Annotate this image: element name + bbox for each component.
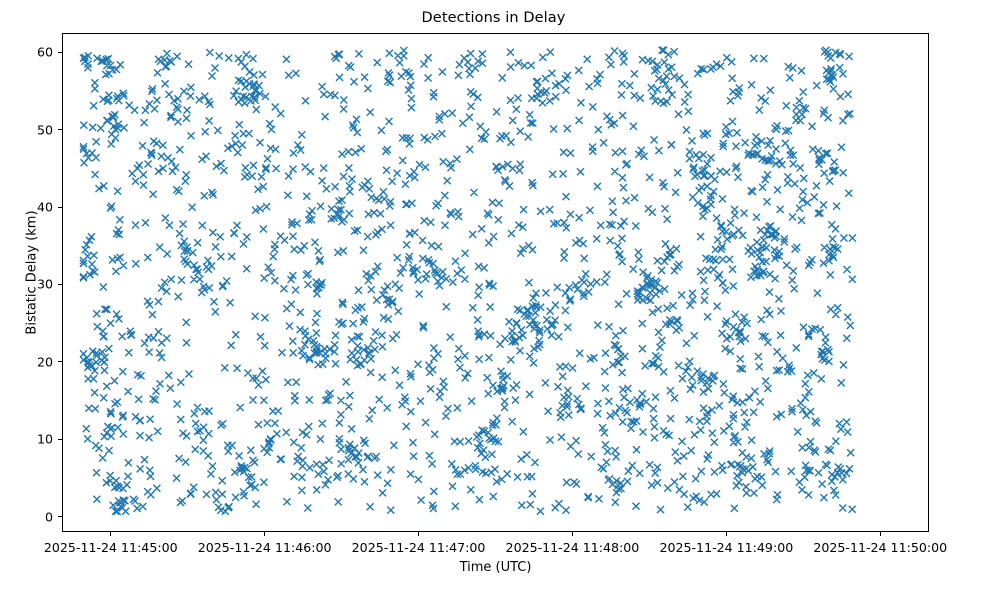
matplotlib-figure: Detections in Delay Bistatic Delay (km) … — [0, 0, 987, 590]
x-tick-label: 2025-11-24 11:50:00 — [813, 540, 947, 555]
x-tick-mark — [880, 532, 881, 536]
x-tick-label: 2025-11-24 11:47:00 — [352, 540, 486, 555]
scatter-points — [63, 34, 929, 532]
x-tick-mark — [726, 532, 727, 536]
x-tick-label: 2025-11-24 11:46:00 — [198, 540, 332, 555]
x-tick-mark — [264, 532, 265, 536]
scatter-marker-set — [80, 47, 856, 515]
y-tick-label: 20 — [0, 354, 53, 369]
y-tick-label: 60 — [0, 45, 53, 60]
y-tick-label: 10 — [0, 432, 53, 447]
x-tick-mark — [418, 532, 419, 536]
x-tick-mark — [572, 532, 573, 536]
x-axis-label: Time (UTC) — [62, 560, 929, 575]
x-tick-label: 2025-11-24 11:45:00 — [44, 540, 178, 555]
x-tick-label: 2025-11-24 11:49:00 — [659, 540, 793, 555]
page-title: Detections in Delay — [0, 10, 987, 26]
y-tick-label: 50 — [0, 122, 53, 137]
x-tick-mark — [110, 532, 111, 536]
y-tick-label: 0 — [0, 509, 53, 524]
y-tick-label: 40 — [0, 200, 53, 215]
y-axis-label: Bistatic Delay (km) — [25, 23, 40, 523]
x-tick-label: 2025-11-24 11:48:00 — [506, 540, 640, 555]
y-tick-label: 30 — [0, 277, 53, 292]
plot-area — [62, 33, 929, 532]
